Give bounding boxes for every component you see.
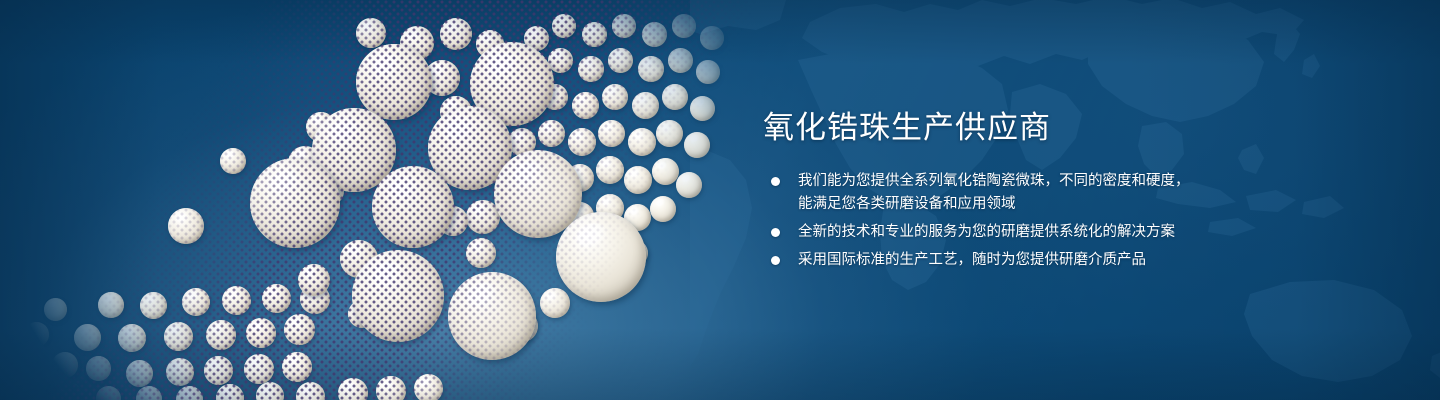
bullet-line-primary: 采用国际标准的生产工艺，随时为您提供研磨介质产品 xyxy=(798,252,1146,268)
zirconia-bead-cluster-image xyxy=(0,0,780,400)
list-item: 我们能为您提供全系列氧化锆陶瓷微珠，不同的密度和硬度， 能满足您各类研磨设备和应… xyxy=(765,170,1225,216)
page-title: 氧化锆珠生产供应商 xyxy=(763,112,1051,143)
bullet-line-primary: 我们能为您提供全系列氧化锆陶瓷微珠，不同的密度和硬度， xyxy=(798,173,1190,189)
feature-bullet-list: 我们能为您提供全系列氧化锆陶瓷微珠，不同的密度和硬度， 能满足您各类研磨设备和应… xyxy=(765,170,1225,272)
bullet-line-primary: 全新的技术和专业的服务为您的研磨提供系统化的解决方案 xyxy=(798,224,1175,240)
bullet-dot-icon xyxy=(771,228,780,237)
bullet-dot-icon xyxy=(771,177,780,186)
list-item: 采用国际标准的生产工艺，随时为您提供研磨介质产品 xyxy=(765,249,1225,272)
banner-content: 氧化锆珠生产供应商 我们能为您提供全系列氧化锆陶瓷微珠，不同的密度和硬度， 能满… xyxy=(763,0,1233,400)
bullet-dot-icon xyxy=(771,256,780,265)
list-item: 全新的技术和专业的服务为您的研磨提供系统化的解决方案 xyxy=(765,221,1225,244)
hero-banner: 氧化锆珠生产供应商 我们能为您提供全系列氧化锆陶瓷微珠，不同的密度和硬度， 能满… xyxy=(0,0,1440,400)
bullet-line-secondary: 能满足您各类研磨设备和应用领域 xyxy=(798,193,1225,216)
